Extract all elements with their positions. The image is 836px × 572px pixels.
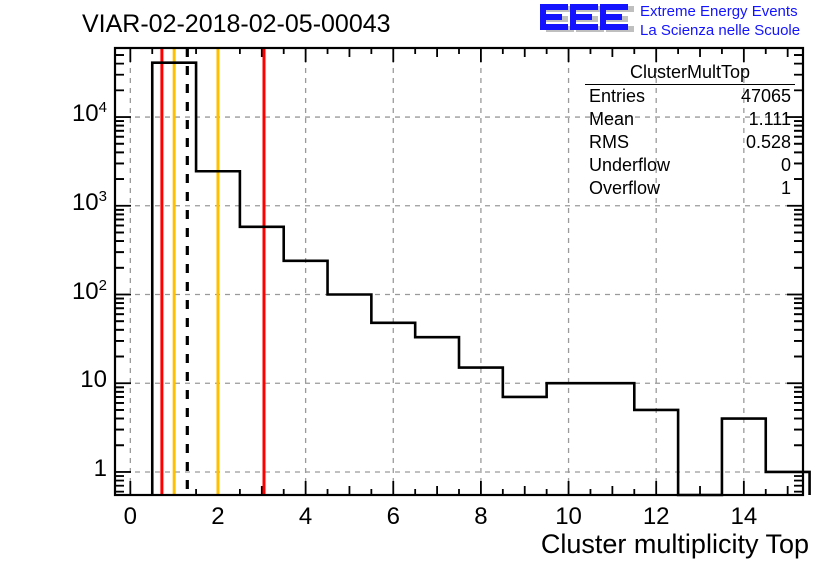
stats-value: 1.111 <box>749 109 791 130</box>
stats-box: ClusterMultTop Entries47065Mean1.111RMS0… <box>585 62 795 200</box>
reference-lines <box>162 48 264 495</box>
y-tick-label: 104 <box>72 100 107 128</box>
stats-title: ClusterMultTop <box>585 62 795 85</box>
x-tick-label: 10 <box>555 503 582 531</box>
x-tick-label: 6 <box>387 503 400 531</box>
y-tick-label: 1 <box>94 455 107 483</box>
stats-value: 1 <box>781 178 791 199</box>
stats-row: Underflow0 <box>585 154 795 177</box>
stats-key: Overflow <box>589 178 660 199</box>
x-tick-label: 8 <box>474 503 487 531</box>
stats-row: Overflow1 <box>585 177 795 200</box>
stats-row: Entries47065 <box>585 85 795 108</box>
root-canvas: VIAR-02-2018-02-05-00043 <box>0 0 836 572</box>
stats-key: RMS <box>589 132 629 153</box>
stats-value: 47065 <box>741 86 791 107</box>
x-tick-label: 12 <box>643 503 670 531</box>
stats-row: RMS0.528 <box>585 131 795 154</box>
stats-key: Underflow <box>589 155 670 176</box>
stats-rows: Entries47065Mean1.111RMS0.528Underflow0O… <box>585 85 795 200</box>
x-tick-label: 2 <box>211 503 224 531</box>
y-tick-label: 103 <box>72 189 107 217</box>
stats-value: 0.528 <box>746 132 791 153</box>
x-tick-label: 4 <box>299 503 312 531</box>
stats-key: Entries <box>589 86 645 107</box>
x-tick-label: 14 <box>730 503 757 531</box>
stats-row: Mean1.111 <box>585 108 795 131</box>
stats-key: Mean <box>589 109 634 130</box>
x-axis-title: Cluster multiplicity Top <box>541 529 809 560</box>
y-tick-label: 10 <box>80 366 107 394</box>
stats-value: 0 <box>781 155 791 176</box>
y-tick-label: 102 <box>72 278 107 306</box>
x-tick-label: 0 <box>124 503 137 531</box>
